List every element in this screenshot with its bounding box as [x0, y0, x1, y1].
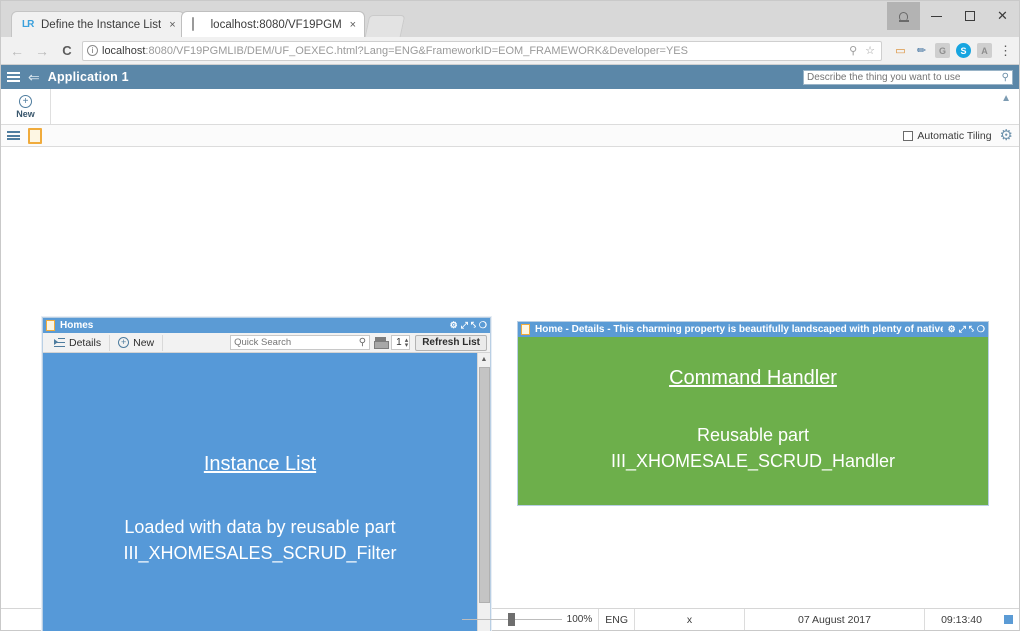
site-info-icon[interactable]: i: [87, 45, 98, 56]
browser-tab-1-close-icon[interactable]: ×: [169, 19, 175, 31]
search-icon[interactable]: ⚲: [1002, 72, 1009, 83]
url-path: :8080/VF19PGMLIB/DEM/UF_OEXEC.html?Lang=…: [145, 45, 688, 57]
extension-icons: ▭ ✏ G S A ⋮: [887, 43, 1013, 58]
browser-tab-1[interactable]: LR Define the Instance List ×: [11, 11, 185, 37]
command-handler-line-2: III_XHOMESALE_SCRUD_Handler: [611, 448, 895, 474]
details-button[interactable]: Details: [46, 333, 109, 352]
printer-icon[interactable]: [374, 337, 387, 348]
lansa-logo-icon: LR: [22, 18, 35, 31]
browser-window: LR Define the Instance List × localhost:…: [0, 0, 1020, 631]
details-window-title: Home - Details - This charming property …: [535, 324, 943, 335]
restore-icon[interactable]: ⤢: [461, 321, 468, 330]
homes-vertical-scrollbar[interactable]: ▲ ▼: [477, 353, 490, 631]
search-icon[interactable]: ⚲: [359, 337, 366, 348]
status-indicator-badge: [1004, 615, 1013, 624]
key-icon[interactable]: ⚲: [847, 44, 859, 57]
homes-window-titlebar[interactable]: Homes ⚙ ⤢ ⤣ ❍: [43, 318, 490, 333]
tab-strip: LR Define the Instance List × localhost:…: [11, 9, 403, 37]
marker-cell: x: [634, 609, 744, 630]
browser-tab-2-close-icon[interactable]: ×: [350, 19, 356, 31]
quick-search-box[interactable]: ⚲: [230, 335, 370, 350]
close-icon[interactable]: ✕: [986, 2, 1019, 30]
page-number-value: 1: [396, 337, 402, 348]
instance-list-line-2: III_XHOMESALES_SCRUD_Filter: [123, 540, 396, 566]
maximize-icon[interactable]: ⤣: [969, 325, 974, 334]
refresh-list-button[interactable]: Refresh List: [415, 335, 487, 351]
eyedropper-icon[interactable]: ✏: [914, 43, 929, 58]
command-handler-heading: Command Handler: [669, 367, 837, 390]
minimize-icon[interactable]: [920, 2, 953, 30]
homes-window[interactable]: Homes ⚙ ⤢ ⤣ ❍ Details + New: [42, 317, 491, 631]
command-handler-line-1: Reusable part: [697, 422, 809, 448]
homes-window-title: Homes: [60, 320, 445, 331]
new-tab-button[interactable]: [365, 15, 406, 37]
details-window-titlebar[interactable]: Home - Details - This charming property …: [518, 322, 988, 337]
address-bar[interactable]: i localhost:8080/VF19PGMLIB/DEM/UF_OEXEC…: [82, 41, 882, 61]
forward-icon[interactable]: →: [32, 43, 52, 59]
ribbon-new-button[interactable]: + New: [1, 89, 51, 124]
document-icon: [521, 324, 530, 335]
close-icon[interactable]: ❍: [977, 325, 985, 334]
skype-extension-icon[interactable]: S: [956, 43, 971, 58]
plus-circle-icon: +: [19, 95, 32, 108]
gear-icon[interactable]: ⚙: [948, 325, 956, 334]
zoom-slider-track[interactable]: [462, 619, 562, 620]
zoom-percent-label: 100%: [567, 614, 593, 625]
automatic-tiling-label: Automatic Tiling: [917, 130, 991, 142]
time-cell: 09:13:40: [924, 609, 998, 630]
command-handler-pane: Command Handler Reusable part III_XHOMES…: [518, 337, 988, 505]
quick-search-input[interactable]: [234, 337, 359, 348]
stepper-arrows[interactable]: ▴ ▾: [405, 338, 409, 348]
search-input[interactable]: [807, 72, 1002, 83]
star-icon[interactable]: ☆: [863, 44, 877, 57]
document-icon: [192, 18, 205, 31]
details-window-controls: ⚙ ⤢ ⤣ ❍: [948, 325, 985, 334]
window-controls: ✕: [887, 1, 1019, 31]
page-number-stepper[interactable]: 1 ▴ ▾: [391, 335, 410, 350]
details-icon: [54, 338, 65, 348]
browser-toolbar: ← → C i localhost:8080/VF19PGMLIB/DEM/UF…: [1, 37, 1019, 65]
details-label: Details: [69, 337, 101, 349]
maximize-icon[interactable]: ⤣: [471, 321, 476, 330]
toolbar-divider: [162, 335, 163, 351]
back-arrow-icon[interactable]: ⇐: [28, 70, 40, 84]
date-cell: 07 August 2017: [744, 609, 924, 630]
instance-list-heading: Instance List: [204, 453, 316, 476]
chrome-menu-icon[interactable]: ⋮: [998, 43, 1013, 58]
pdf-extension-icon[interactable]: A: [977, 43, 992, 58]
browser-tab-2-title: localhost:8080/VF19PGM: [211, 19, 342, 31]
address-bar-url: localhost:8080/VF19PGMLIB/DEM/UF_OEXEC.h…: [102, 45, 843, 57]
gear-icon[interactable]: ⚙: [450, 321, 458, 330]
language-indicator: ENG: [598, 609, 634, 630]
scrollbar-thumb[interactable]: [479, 367, 490, 603]
workspace: Homes ⚙ ⤢ ⤣ ❍ Details + New: [1, 147, 1019, 608]
user-icon[interactable]: [887, 2, 920, 30]
stepper-down-icon[interactable]: ▾: [405, 343, 409, 348]
browser-titlebar: LR Define the Instance List × localhost:…: [1, 1, 1019, 37]
zoom-slider-thumb[interactable]: [508, 613, 515, 626]
close-icon[interactable]: ❍: [479, 321, 487, 330]
application-header: ⇐ Application 1 ⚲: [1, 65, 1019, 89]
ribbon-new-label: New: [16, 109, 35, 119]
bookmark-manager-icon[interactable]: ▭: [893, 43, 908, 58]
browser-tab-2[interactable]: localhost:8080/VF19PGM ×: [181, 11, 365, 37]
maximize-icon[interactable]: [953, 2, 986, 30]
home-details-window[interactable]: Home - Details - This charming property …: [517, 321, 989, 506]
open-document-icon[interactable]: [28, 128, 42, 144]
automatic-tiling-checkbox[interactable]: [903, 131, 913, 141]
browser-tab-1-title: Define the Instance List: [41, 19, 161, 31]
back-icon[interactable]: ←: [7, 43, 27, 59]
homes-toolbar: Details + New ⚲ 1 ▴ ▾: [43, 333, 490, 353]
gear-icon[interactable]: ⚙: [1000, 128, 1013, 143]
homes-window-controls: ⚙ ⤢ ⤣ ❍: [450, 321, 487, 330]
app-search-box[interactable]: ⚲: [803, 70, 1013, 85]
url-host: localhost: [102, 45, 145, 57]
page-title: Application 1: [48, 70, 129, 84]
new-record-button[interactable]: + New: [110, 333, 162, 352]
instance-list-line-1: Loaded with data by reusable part: [124, 514, 395, 540]
homes-body: Instance List Loaded with data by reusab…: [43, 353, 490, 631]
google-extension-icon[interactable]: G: [935, 43, 950, 58]
scroll-up-icon[interactable]: ▲: [481, 353, 488, 366]
instance-list-pane: Instance List Loaded with data by reusab…: [43, 353, 477, 631]
document-tabbar: Automatic Tiling ⚙: [1, 125, 1019, 147]
new-record-label: New: [133, 337, 154, 349]
automatic-tiling-toggle[interactable]: Automatic Tiling: [903, 130, 991, 142]
tabbar-hamburger-icon[interactable]: [7, 131, 20, 140]
ribbon-bar: + New ▲: [1, 89, 1019, 125]
hamburger-icon[interactable]: [7, 72, 20, 82]
plus-circle-icon: +: [118, 337, 129, 348]
document-icon: [46, 320, 55, 331]
reload-icon[interactable]: C: [57, 43, 77, 58]
restore-icon[interactable]: ⤢: [959, 325, 966, 334]
collapse-ribbon-icon[interactable]: ▲: [1001, 93, 1011, 104]
